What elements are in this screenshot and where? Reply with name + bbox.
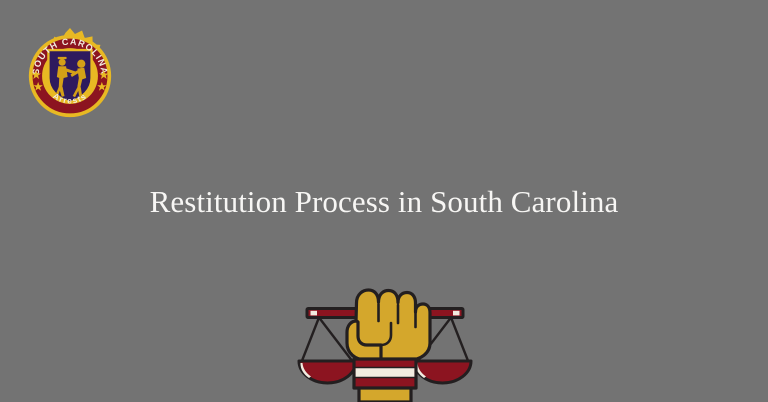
page-canvas: SOUTH CAROLINA Arrests Restitution Proce…	[0, 0, 768, 402]
scales-of-justice-illustration	[297, 281, 473, 402]
south-carolina-arrests-logo[interactable]: SOUTH CAROLINA Arrests	[21, 27, 119, 125]
page-title: Restitution Process in South Carolina	[0, 183, 768, 221]
left-scale-strings	[302, 318, 354, 363]
striped-wristband	[354, 359, 416, 388]
left-scale-pan	[299, 361, 356, 383]
right-scale-pan	[414, 361, 471, 383]
raised-fist-icon	[347, 290, 430, 360]
